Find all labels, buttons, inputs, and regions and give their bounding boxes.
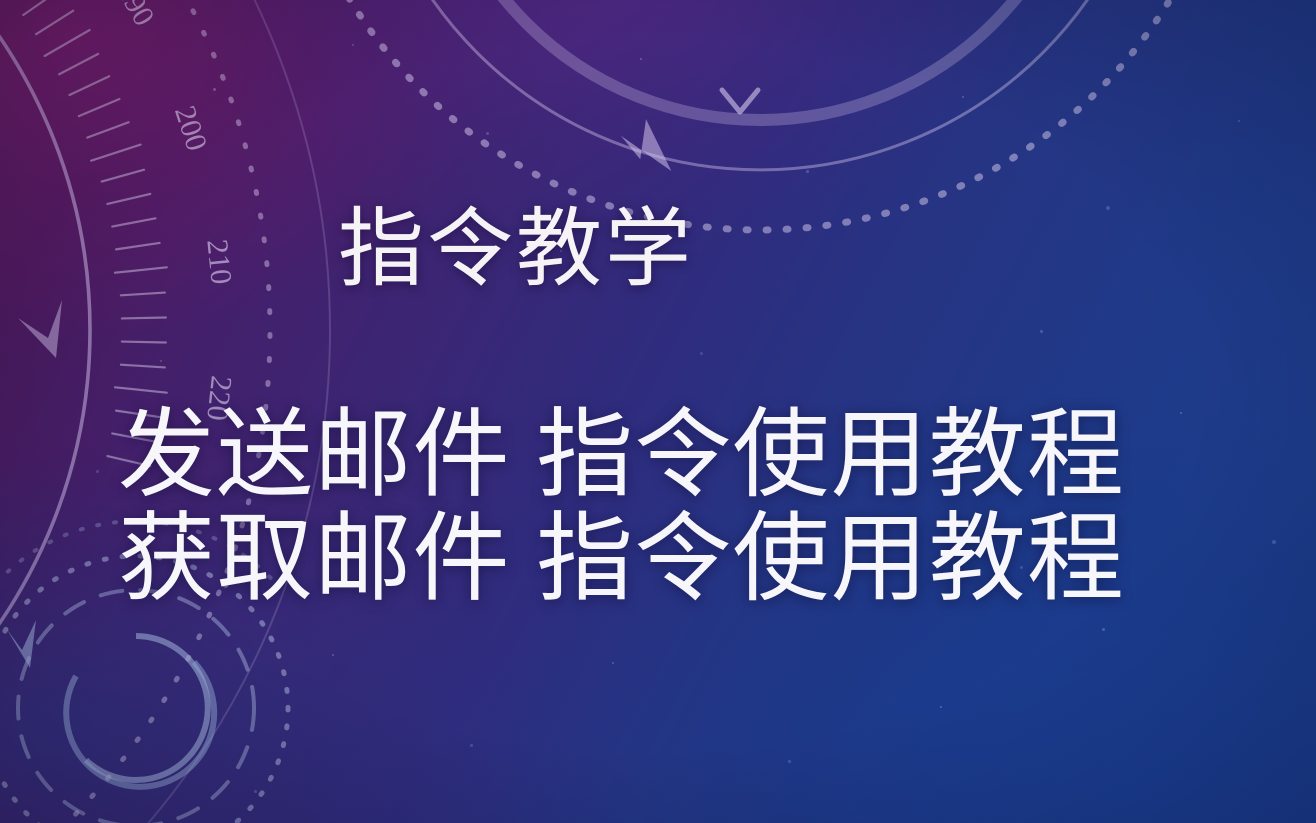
page-title: 指令教学 — [338, 201, 694, 297]
subtitle-line-1: 发送邮件 指令使用教程 — [118, 404, 1125, 508]
slide-canvas: 160 170 180 190 200 210 220 — [0, 0, 1316, 823]
slide-content: 指令教学 发送邮件 指令使用教程 获取邮件 指令使用教程 — [0, 0, 1316, 823]
subtitle-block: 发送邮件 指令使用教程 获取邮件 指令使用教程 — [118, 404, 1125, 612]
subtitle-line-2: 获取邮件 指令使用教程 — [118, 508, 1125, 612]
